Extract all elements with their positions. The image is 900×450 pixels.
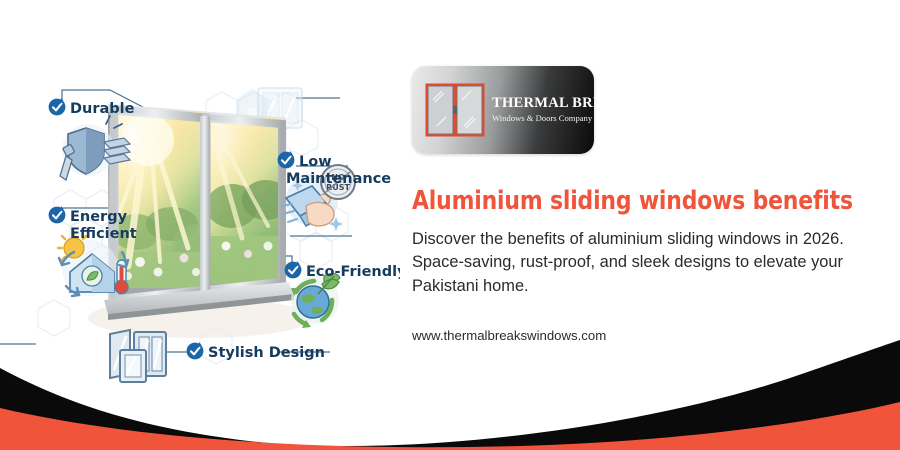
- description-text: Discover the benefits of aluminium slidi…: [412, 228, 850, 298]
- feature-label-energy-efficient-line1: Energy: [70, 209, 128, 225]
- content-panel: THERMAL BREAK Windows & Doors Company Al…: [412, 66, 872, 343]
- website-url[interactable]: www.thermalbreakswindows.com: [412, 328, 872, 343]
- wave-orange-2: [0, 402, 900, 450]
- logo-title: THERMAL BREAK: [492, 96, 592, 111]
- window-panel-icon: [424, 82, 486, 138]
- feature-label-low-maintenance-line2: Maintenance: [286, 171, 391, 187]
- features-infographic: Durable: [0, 0, 400, 400]
- feature-badge-stylish-design: [187, 342, 204, 359]
- feature-label-low-maintenance-line1: Low: [299, 154, 332, 170]
- feature-label-stylish-design: Stylish Design: [208, 345, 325, 361]
- wave-orange: [0, 412, 260, 450]
- feature-badge-eco-friendly: [285, 261, 302, 278]
- brand-logo[interactable]: THERMAL BREAK Windows & Doors Company: [412, 66, 594, 154]
- feature-badge-durable: [49, 98, 66, 115]
- promo-banner: Durable: [0, 0, 900, 450]
- feature-label-eco-friendly: Eco-Friendly: [306, 264, 400, 280]
- feature-icon-stylish-design: [110, 330, 166, 382]
- feature-label-durable: Durable: [70, 101, 135, 117]
- logo-text-block: THERMAL BREAK Windows & Doors Company: [492, 96, 592, 122]
- feature-icon-eco-friendly: [291, 273, 340, 328]
- logo-subtitle: Windows & Doors Company: [492, 114, 592, 123]
- feature-badge-energy-efficient: [49, 206, 66, 223]
- page-title: Aluminium sliding windows benefits: [412, 188, 808, 215]
- feature-label-energy-efficient-line2: Efficient: [70, 226, 137, 242]
